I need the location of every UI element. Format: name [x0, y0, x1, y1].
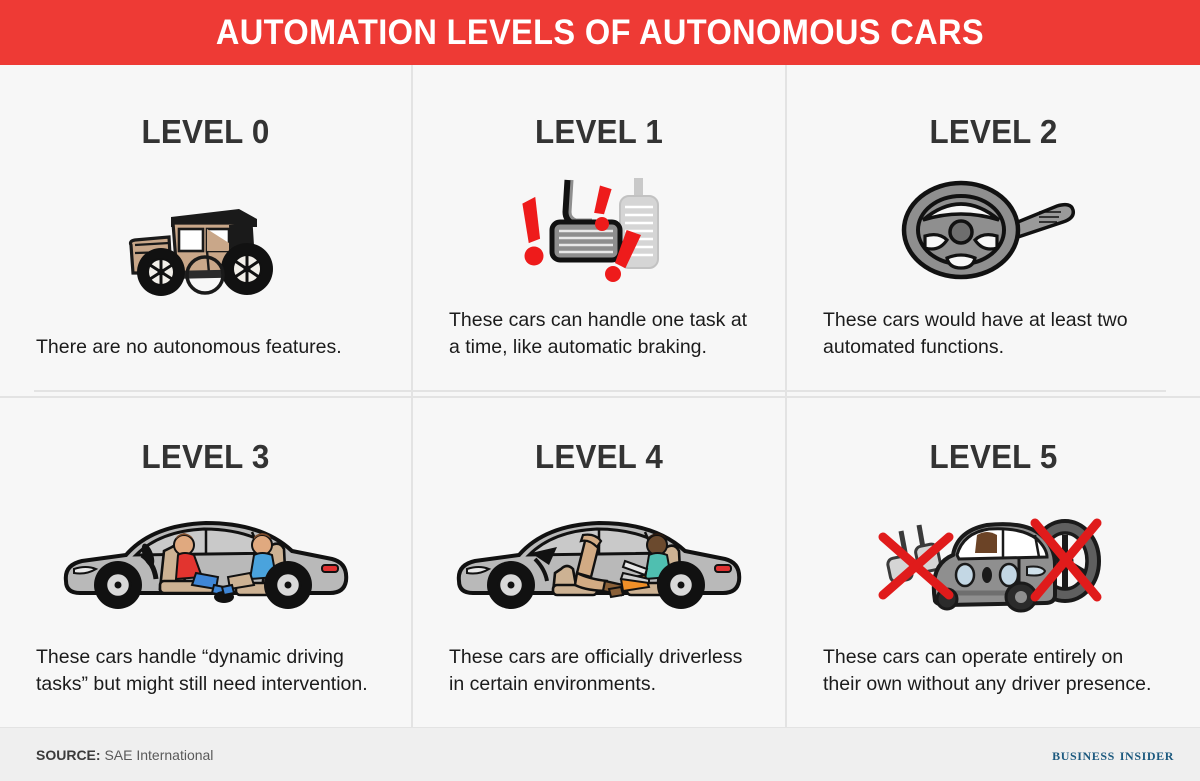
level-card-5: LEVEL 5 — [787, 396, 1200, 727]
vintage-car-icon — [111, 187, 301, 299]
level-2-art — [787, 153, 1200, 307]
level-card-0: LEVEL 0 — [0, 65, 411, 396]
level-5-title: LEVEL 5 — [797, 438, 1189, 476]
level-5-description: These cars can operate entirely on their… — [787, 644, 1200, 697]
source-credit: SOURCE: SAE International — [36, 747, 213, 763]
level-card-2: LEVEL 2 — [787, 65, 1200, 396]
level-3-art — [0, 478, 411, 644]
infographic-root: AUTOMATION LEVELS OF AUTONOMOUS CARS LEV… — [0, 0, 1200, 781]
level-0-description: There are no autonomous features. — [0, 334, 411, 360]
pod-car-no-controls-icon — [869, 505, 1119, 617]
level-2-description: These cars would have at least two autom… — [787, 307, 1200, 360]
level-1-art — [413, 153, 785, 307]
level-card-1: LEVEL 1 — [411, 65, 787, 396]
level-3-description: These cars handle “dynamic driving tasks… — [0, 644, 411, 697]
steering-wheel-with-stalk-icon — [899, 178, 1089, 282]
level-1-title: LEVEL 1 — [422, 113, 775, 151]
level-0-title: LEVEL 0 — [10, 113, 400, 151]
levels-grid: LEVEL 0 — [0, 65, 1200, 727]
level-card-4: LEVEL 4 — [411, 396, 787, 727]
level-4-title: LEVEL 4 — [422, 438, 775, 476]
level-4-art — [413, 478, 785, 644]
level-card-3: LEVEL 3 — [0, 396, 411, 727]
page-title: AUTOMATION LEVELS OF AUTONOMOUS CARS — [216, 13, 984, 53]
level-1-description: These cars can handle one task at a time… — [413, 307, 785, 360]
header-banner: AUTOMATION LEVELS OF AUTONOMOUS CARS — [0, 0, 1200, 65]
level-2-title: LEVEL 2 — [797, 113, 1189, 151]
level-5-art — [787, 478, 1200, 644]
source-label: SOURCE: — [36, 747, 101, 763]
level-0-art — [0, 153, 411, 334]
level-4-description: These cars are officially driverless in … — [413, 644, 785, 697]
sedan-with-driver-and-passenger-icon — [56, 507, 356, 615]
business-insider-logo: Business Insider — [1052, 745, 1174, 765]
level-3-title: LEVEL 3 — [10, 438, 400, 476]
footer-bar: SOURCE: SAE International Business Insid… — [0, 727, 1200, 781]
source-value: SAE International — [101, 747, 214, 763]
sedan-with-relaxing-passenger-icon — [449, 507, 749, 615]
brake-and-accelerator-pedals-icon — [514, 174, 684, 286]
